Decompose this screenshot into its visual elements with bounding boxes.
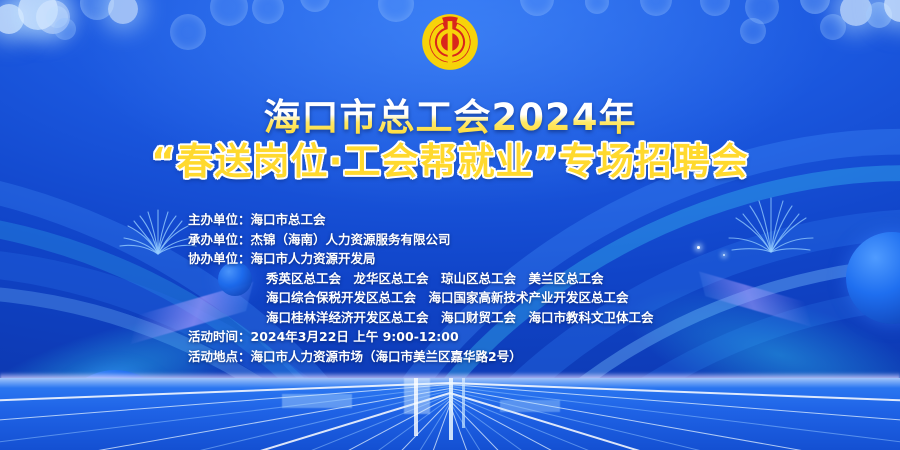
info-row: 海口桂林洋经济开发区总工会 海口财贸工会 海口市教科文卫体工会 <box>188 308 788 328</box>
info-row-label: 主办单位： <box>188 210 251 230</box>
event-info-block: 主办单位：海口市总工会承办单位：杰锦（海南）人力资源服务有限公司协办单位：海口市… <box>188 210 788 366</box>
info-row-value: 2024年3月22日 上午 9:00-12:00 <box>251 329 459 344</box>
info-row-label: 协办单位： <box>188 249 251 269</box>
info-row: 协办单位：海口市人力资源开发局 <box>188 249 788 269</box>
perspective-floor-decor <box>0 378 900 450</box>
info-row-label: 活动地点： <box>188 347 251 367</box>
info-row: 主办单位：海口市总工会 <box>188 210 788 230</box>
sphere-decor <box>846 232 900 324</box>
firework-burst-icon <box>118 196 198 276</box>
info-row-value: 海口市人力资源市场（海口市美兰区嘉华路2号） <box>251 349 522 364</box>
info-row-value: 杰锦（海南）人力资源服务有限公司 <box>251 232 451 247</box>
info-row-value: 海口市总工会 <box>251 212 326 227</box>
poster-canvas: 海口市总工会2024年 “春送岗位·工会帮就业”专场招聘会 主办单位：海口市总工… <box>0 0 900 450</box>
info-row: 承办单位：杰锦（海南）人力资源服务有限公司 <box>188 230 788 250</box>
page-title-line2: “春送岗位·工会帮就业”专场招聘会 <box>0 142 900 181</box>
info-row-value: 秀英区总工会 龙华区总工会 琼山区总工会 美兰区总工会 <box>266 271 604 286</box>
title-block: 海口市总工会2024年 “春送岗位·工会帮就业”专场招聘会 <box>0 98 900 181</box>
info-row-label: 承办单位： <box>188 230 251 250</box>
page-title-line1: 海口市总工会2024年 <box>0 98 900 137</box>
info-row: 活动时间：2024年3月22日 上午 9:00-12:00 <box>188 327 788 347</box>
info-row: 活动地点：海口市人力资源市场（海口市美兰区嘉华路2号） <box>188 347 788 367</box>
info-row: 秀英区总工会 龙华区总工会 琼山区总工会 美兰区总工会 <box>188 269 788 289</box>
info-row-value: 海口市人力资源开发局 <box>251 251 376 266</box>
info-row: 海口综合保税开发区总工会 海口国家高新技术产业开发区总工会 <box>188 288 788 308</box>
acftu-union-emblem <box>421 13 479 71</box>
info-row-value: 海口综合保税开发区总工会 海口国家高新技术产业开发区总工会 <box>266 290 629 305</box>
info-row-value: 海口桂林洋经济开发区总工会 海口财贸工会 海口市教科文卫体工会 <box>266 310 654 325</box>
info-row-label: 活动时间： <box>188 327 251 347</box>
